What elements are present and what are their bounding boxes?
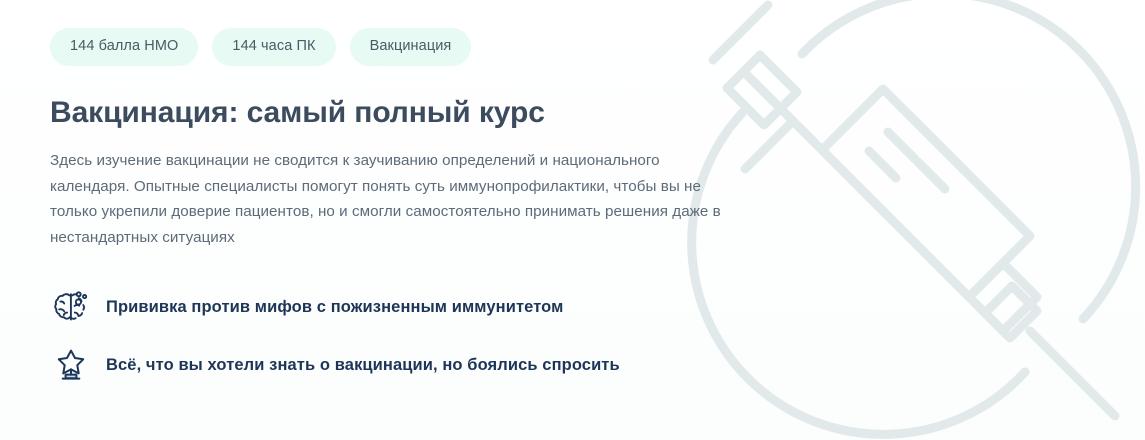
star-trophy-icon [50,344,92,386]
hero-banner: 144 балла НМО 144 часа ПК Вакцинация Вак… [0,0,1145,440]
badge-pk-hours[interactable]: 144 часа ПК [212,28,335,66]
badge-topic[interactable]: Вакцинация [350,28,472,66]
hero-content: 144 балла НМО 144 часа ПК Вакцинация Вак… [0,0,740,386]
feature-label: Прививка против мифов с пожизненным имму… [106,298,563,317]
badge-row: 144 балла НМО 144 часа ПК Вакцинация [50,28,740,66]
page-title: Вакцинация: самый полный курс [50,96,740,131]
brain-icon [50,286,92,328]
list-item: Всё, что вы хотели знать о вакцинации, н… [50,344,740,386]
hero-description: Здесь изучение вакцинации не сводится к … [50,148,740,250]
feature-label: Всё, что вы хотели знать о вакцинации, н… [106,356,620,375]
list-item: Прививка против мифов с пожизненным имму… [50,286,740,328]
badge-nmo-points[interactable]: 144 балла НМО [50,28,198,66]
feature-list: Прививка против мифов с пожизненным имму… [50,286,740,386]
syringe-in-circle-icon [685,0,1145,440]
